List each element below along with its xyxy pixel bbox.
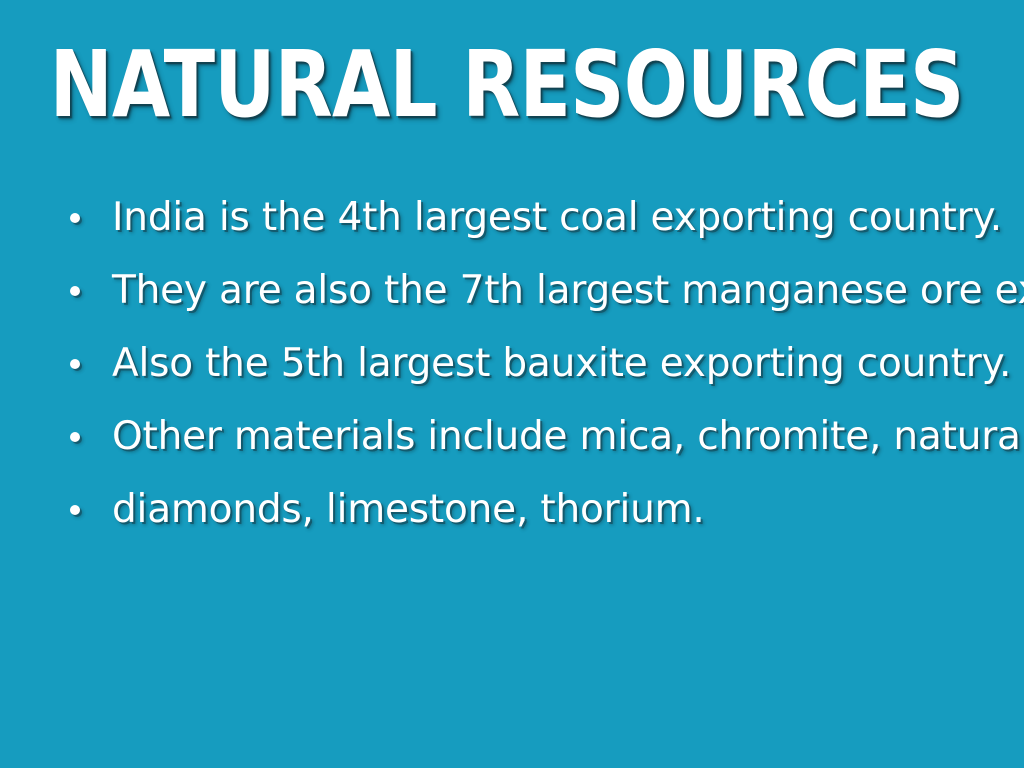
list-item-label: Other materials include mica, chromite, … [112,415,1024,459]
list-item-label: They are also the 7th largest manganese … [112,269,1024,313]
slide-title-block: NATURAL RESOURCES [0,30,1024,140]
bullet-dot-icon [70,213,80,223]
bullet-dot-icon [70,286,80,296]
bullet-list: India is the 4th largest coal exporting … [0,196,1024,561]
bullet-dot-icon [70,432,80,442]
bullet-dot-icon [70,359,80,369]
list-item: Also the 5th largest bauxite exporting c… [0,342,1024,415]
page-title: NATURAL RESOURCES [49,39,963,131]
presentation-slide: NATURAL RESOURCES India is the 4th large… [0,0,1024,768]
list-item: Other materials include mica, chromite, … [0,415,1024,488]
list-item: India is the 4th largest coal exporting … [0,196,1024,269]
list-item: They are also the 7th largest manganese … [0,269,1024,342]
bullet-dot-icon [70,505,80,515]
list-item: diamonds, limestone, thorium. [0,488,1024,561]
list-item-label: India is the 4th largest coal exporting … [112,196,1002,240]
list-item-label: Also the 5th largest bauxite exporting c… [112,342,1011,386]
list-item-label: diamonds, limestone, thorium. [112,488,705,532]
